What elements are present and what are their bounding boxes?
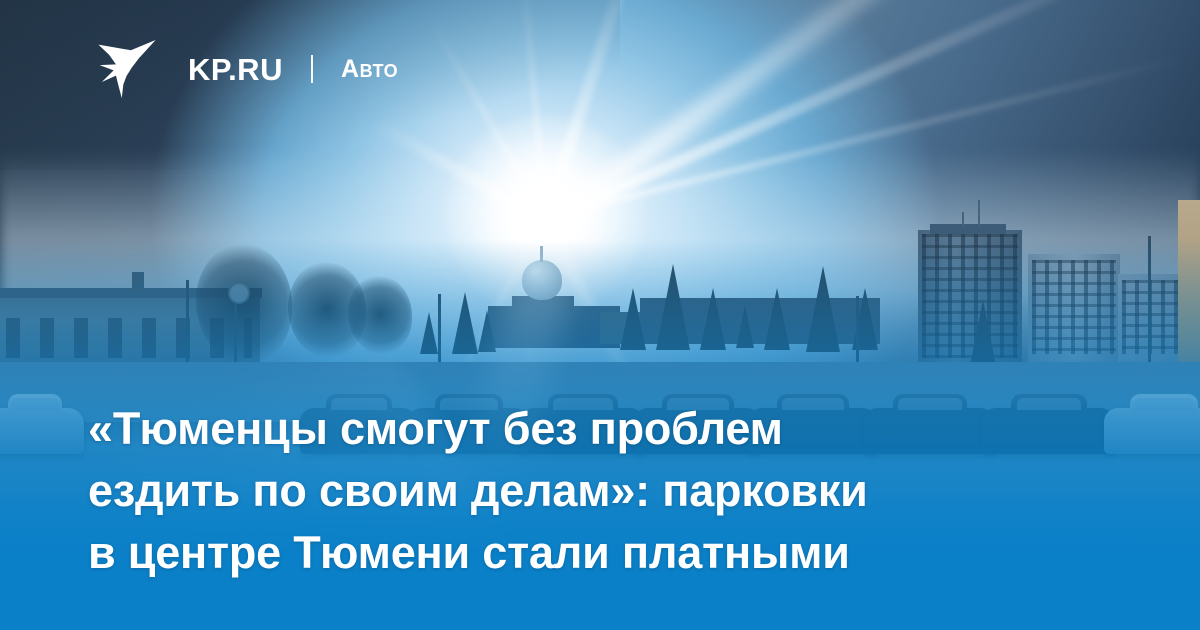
- conifer-tree: [420, 312, 438, 354]
- conifer-tree: [452, 292, 478, 354]
- block-b-windows: [1122, 280, 1180, 354]
- parked-car: [0, 408, 84, 454]
- block-a-windows: [1032, 260, 1116, 354]
- tower-roof: [930, 224, 1006, 234]
- antenna-icon: [962, 212, 964, 226]
- conifer-tree: [700, 288, 726, 350]
- brand-separator: [311, 55, 313, 83]
- social-share-card: KP.RU Авто «Тюменцы смогут без проблем е…: [0, 0, 1200, 630]
- car-window: [11, 398, 58, 410]
- conifer-tree: [736, 306, 754, 348]
- headline-line-1: «Тюменцы смогут без проблем: [88, 398, 1118, 460]
- conifer-tree: [656, 264, 690, 350]
- headline: «Тюменцы смогут без проблем ездить по св…: [88, 398, 1118, 584]
- bare-tree: [196, 244, 292, 364]
- headline-line-3: в центре Тюмени стали платными: [88, 522, 1118, 584]
- conifer-tree: [620, 288, 646, 350]
- conifer-tree: [806, 266, 840, 352]
- parked-car: [1104, 408, 1200, 454]
- conifer-tree: [478, 310, 496, 352]
- kp-swallow-bird-icon[interactable]: [96, 38, 158, 100]
- road-sign-icon: [228, 282, 250, 304]
- brand-section-label[interactable]: Авто: [341, 57, 398, 82]
- antenna-icon: [978, 200, 980, 226]
- brand-name[interactable]: KP.RU: [188, 54, 283, 85]
- car-window: [1135, 398, 1193, 410]
- chimney: [132, 272, 144, 290]
- brand-bar[interactable]: KP.RU Авто: [96, 38, 398, 100]
- headline-line-2: ездить по своим делам»: парковки: [88, 460, 1118, 522]
- conifer-tree: [764, 288, 790, 350]
